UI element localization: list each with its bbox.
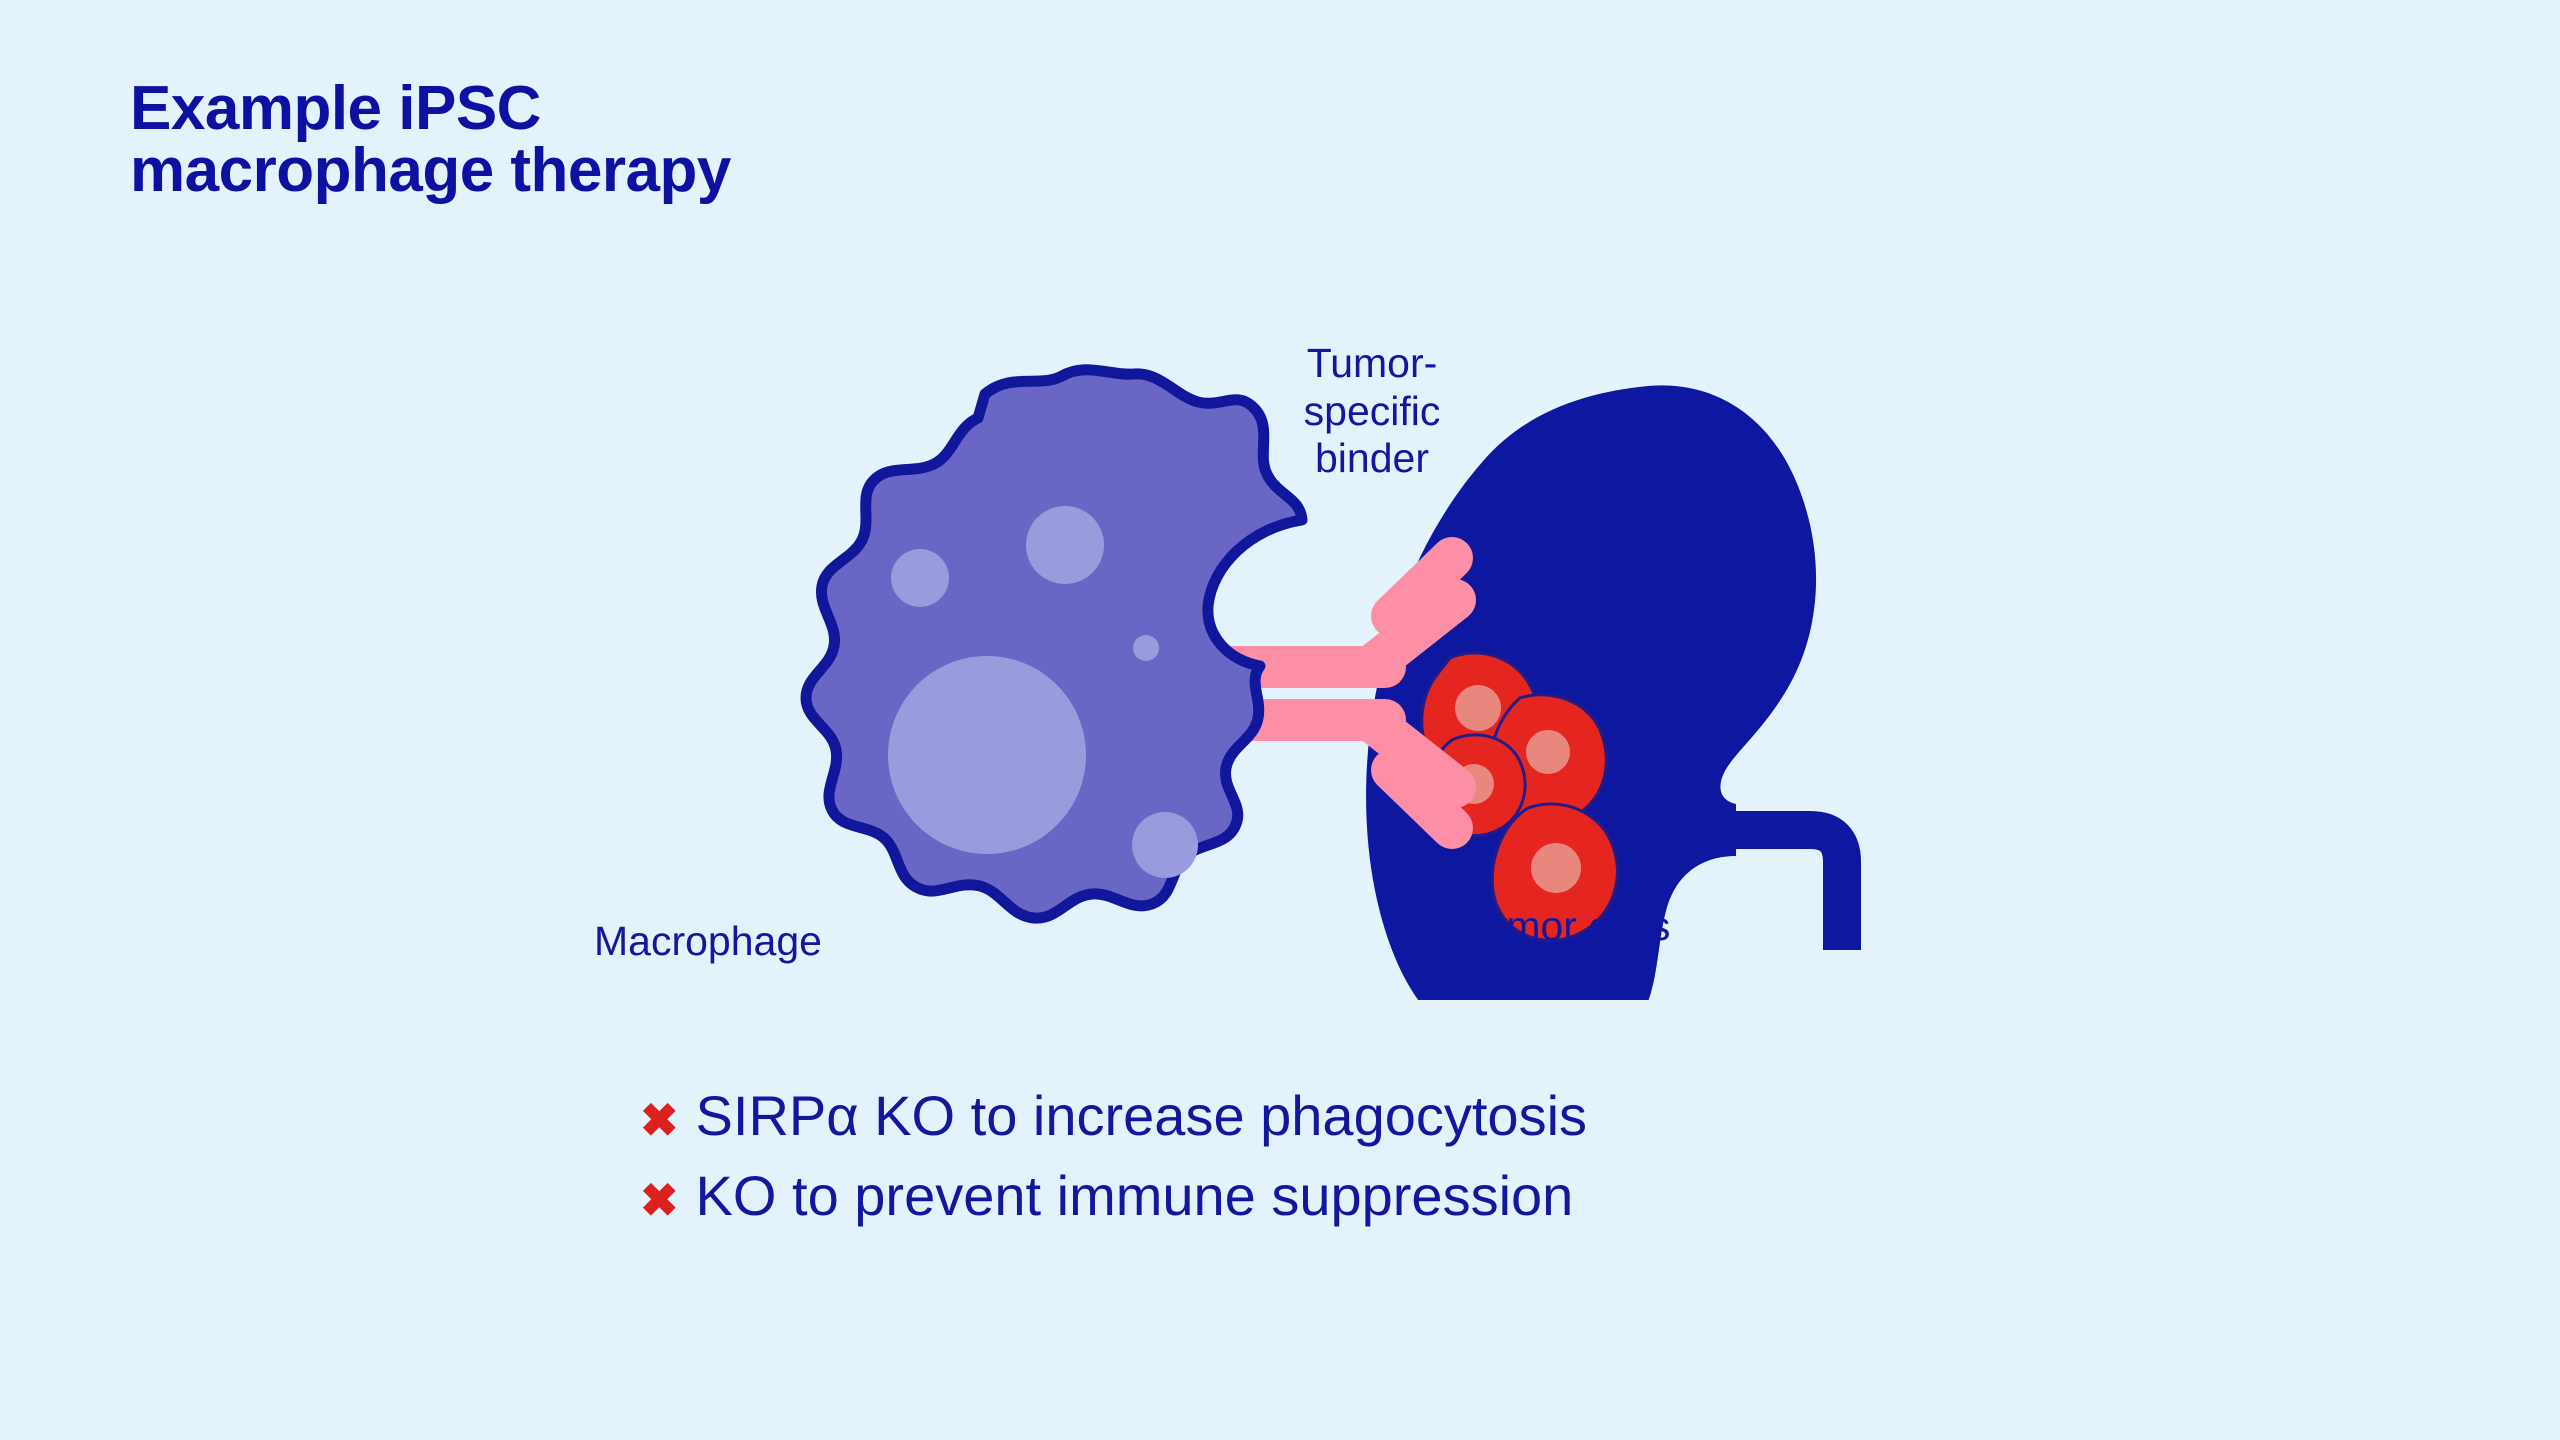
feature-list: ✖ SIRPα KO to increase phagocytosis ✖ KO… xyxy=(640,1085,2140,1244)
binder-label-line-1: Tumor- xyxy=(1272,340,1472,388)
tumor-cell-nucleus xyxy=(1455,685,1501,731)
page-title-line-1: Example iPSC xyxy=(130,78,1030,140)
binder-label-line-3: binder xyxy=(1272,435,1472,483)
tumor-cells-label: Tumor cells xyxy=(1460,903,1670,951)
macrophage-vesicle xyxy=(1133,635,1159,661)
macrophage-label: Macrophage xyxy=(594,918,822,966)
macrophage-cell-icon xyxy=(806,370,1302,918)
list-item: ✖ SIRPα KO to increase phagocytosis xyxy=(640,1085,2140,1147)
list-item: ✖ KO to prevent immune suppression xyxy=(640,1165,2140,1227)
page-title-line-2: macrophage therapy xyxy=(130,140,1030,202)
macrophage-vesicle xyxy=(1026,506,1104,584)
macrophage-nucleus xyxy=(888,656,1086,854)
binder-label-line-2: specific xyxy=(1272,388,1472,436)
tumor-cell-nucleus xyxy=(1526,730,1570,774)
cross-mark-icon: ✖ xyxy=(640,1177,679,1223)
binder-label: Tumor- specific binder xyxy=(1272,340,1472,483)
page-title: Example iPSC macrophage therapy xyxy=(130,78,1030,202)
list-item-label: KO to prevent immune suppression xyxy=(696,1165,1574,1227)
list-item-label: SIRPα KO to increase phagocytosis xyxy=(696,1085,1587,1147)
slide-canvas: Example iPSC macrophage therapy xyxy=(0,0,2560,1440)
macrophage-vesicle xyxy=(1132,812,1198,878)
cross-mark-icon: ✖ xyxy=(640,1097,679,1143)
macrophage-membrane xyxy=(806,370,1302,918)
tumor-cell-nucleus xyxy=(1531,843,1581,893)
macrophage-vesicle xyxy=(891,549,949,607)
ureter-tube xyxy=(1726,830,1842,950)
